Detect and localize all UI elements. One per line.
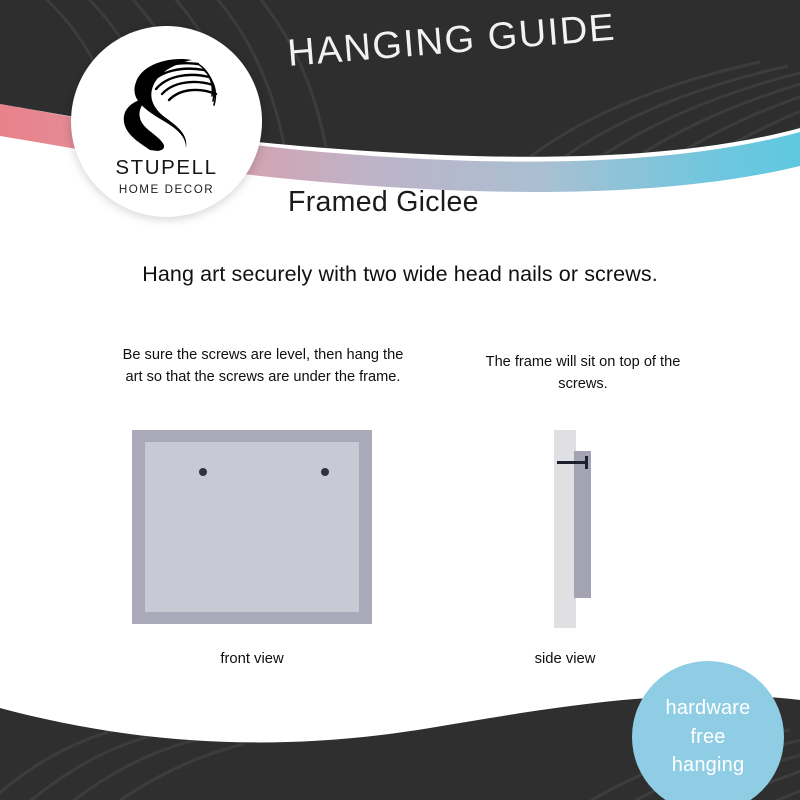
product-type: Framed Giclee [288, 186, 479, 219]
brand-badge: STUPELL HOME DECOR [71, 26, 262, 217]
intro-instruction: Hang art securely with two wide head nai… [0, 262, 800, 287]
screw-dot-icon [321, 468, 329, 476]
front-view-label: front view [132, 651, 372, 667]
side-wall-strip [554, 430, 576, 628]
badge-line-2: free [690, 723, 725, 751]
screw-shaft-icon [557, 461, 586, 464]
screw-dot-icon [199, 468, 207, 476]
front-frame-border [132, 430, 372, 624]
brand-subtitle: HOME DECOR [71, 183, 262, 196]
side-view-caption: The frame will sit on top of the screws. [470, 352, 696, 395]
side-view-label: side view [490, 651, 640, 667]
badge-line-3: hanging [672, 751, 745, 779]
front-view-diagram [132, 430, 372, 624]
front-view-caption: Be sure the screws are level, then hang … [118, 345, 408, 388]
front-frame-mat [145, 442, 359, 612]
hardware-free-hanging-badge: hardware free hanging [632, 661, 784, 800]
brand-name: STUPELL [71, 156, 262, 180]
stupell-swoosh-logo-icon [112, 56, 222, 151]
side-frame-strip [574, 451, 591, 598]
badge-line-1: hardware [666, 694, 751, 722]
hanging-guide-page: STUPELL HOME DECOR HANGING GUIDE Framed … [0, 0, 800, 800]
screw-head-icon [585, 456, 588, 469]
